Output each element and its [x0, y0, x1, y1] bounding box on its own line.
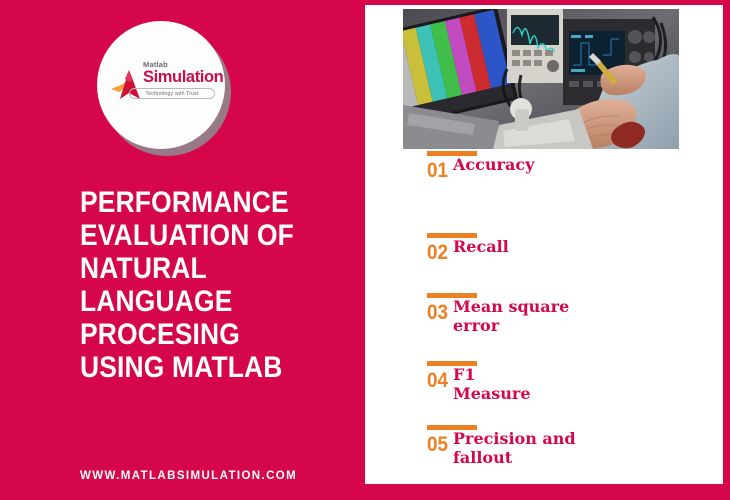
metrics-list: 01 Accuracy 02 Recall 03 [365, 151, 723, 485]
list-item-label: F1 Measure [447, 361, 723, 403]
list-item-bar [427, 151, 477, 156]
list-item-label-line: F1 [453, 365, 723, 384]
title-line: USING MATLAB [80, 351, 283, 384]
list-item-bar [427, 425, 477, 430]
title-line: PROCESING [80, 318, 240, 351]
logo-brand-main: Simulation [143, 68, 215, 86]
page-title: PERFORMANCE EVALUATION OF NATURAL LANGUA… [80, 186, 318, 384]
list-item-label: Mean square error [447, 293, 723, 335]
right-panel: 01 Accuracy 02 Recall 03 [365, 5, 723, 484]
list-item[interactable]: 04 F1 Measure [365, 361, 723, 425]
lab-electronics-photo [403, 9, 679, 149]
list-item[interactable]: 02 Recall [365, 233, 723, 293]
list-item-label-line: fallout [453, 448, 723, 467]
logo-circle: Matlab Simulation Technology with Trust [97, 21, 225, 149]
left-column: Matlab Simulation Technology with Trust … [0, 0, 365, 500]
list-item-label-line: Precision and [453, 429, 723, 448]
list-item-label: Recall [447, 233, 723, 256]
list-item-number: 05 [427, 434, 445, 456]
logo-tagline: Technology with Trust [129, 88, 215, 99]
list-item-number: 04 [427, 370, 445, 392]
list-item-label-line: Accuracy [453, 155, 723, 174]
brand-logo: Matlab Simulation Technology with Trust [97, 21, 225, 149]
list-item-number-column: 03 [365, 293, 447, 324]
list-item-number-column: 04 [365, 361, 447, 392]
list-item[interactable]: 03 Mean square error [365, 293, 723, 361]
list-item-number-column: 01 [365, 151, 447, 182]
list-item-bar [427, 233, 477, 238]
list-item[interactable]: 01 Accuracy [365, 151, 723, 233]
title-line: PERFORMANCE [80, 186, 289, 219]
list-item-number-column: 05 [365, 425, 447, 456]
list-item[interactable]: 05 Precision and fallout [365, 425, 723, 485]
title-line: EVALUATION OF [80, 219, 294, 252]
list-item-label-line: Recall [453, 237, 723, 256]
list-item-number: 03 [427, 302, 445, 324]
list-item-label-line: error [453, 316, 723, 335]
list-item-label-line: Measure [453, 384, 723, 403]
list-item-label: Precision and fallout [447, 425, 723, 467]
list-item-label-line: Mean square [453, 297, 723, 316]
list-item-number-column: 02 [365, 233, 447, 264]
list-item-bar [427, 361, 477, 366]
website-url: WWW.MATLABSIMULATION.COM [80, 470, 297, 482]
list-item-number: 02 [427, 242, 445, 264]
list-item-bar [427, 293, 477, 298]
title-line: NATURAL [80, 252, 207, 285]
list-item-label: Accuracy [447, 151, 723, 174]
list-item-number: 01 [427, 160, 445, 182]
title-line: LANGUAGE [80, 285, 232, 318]
poster-canvas: Matlab Simulation Technology with Trust … [0, 0, 730, 500]
